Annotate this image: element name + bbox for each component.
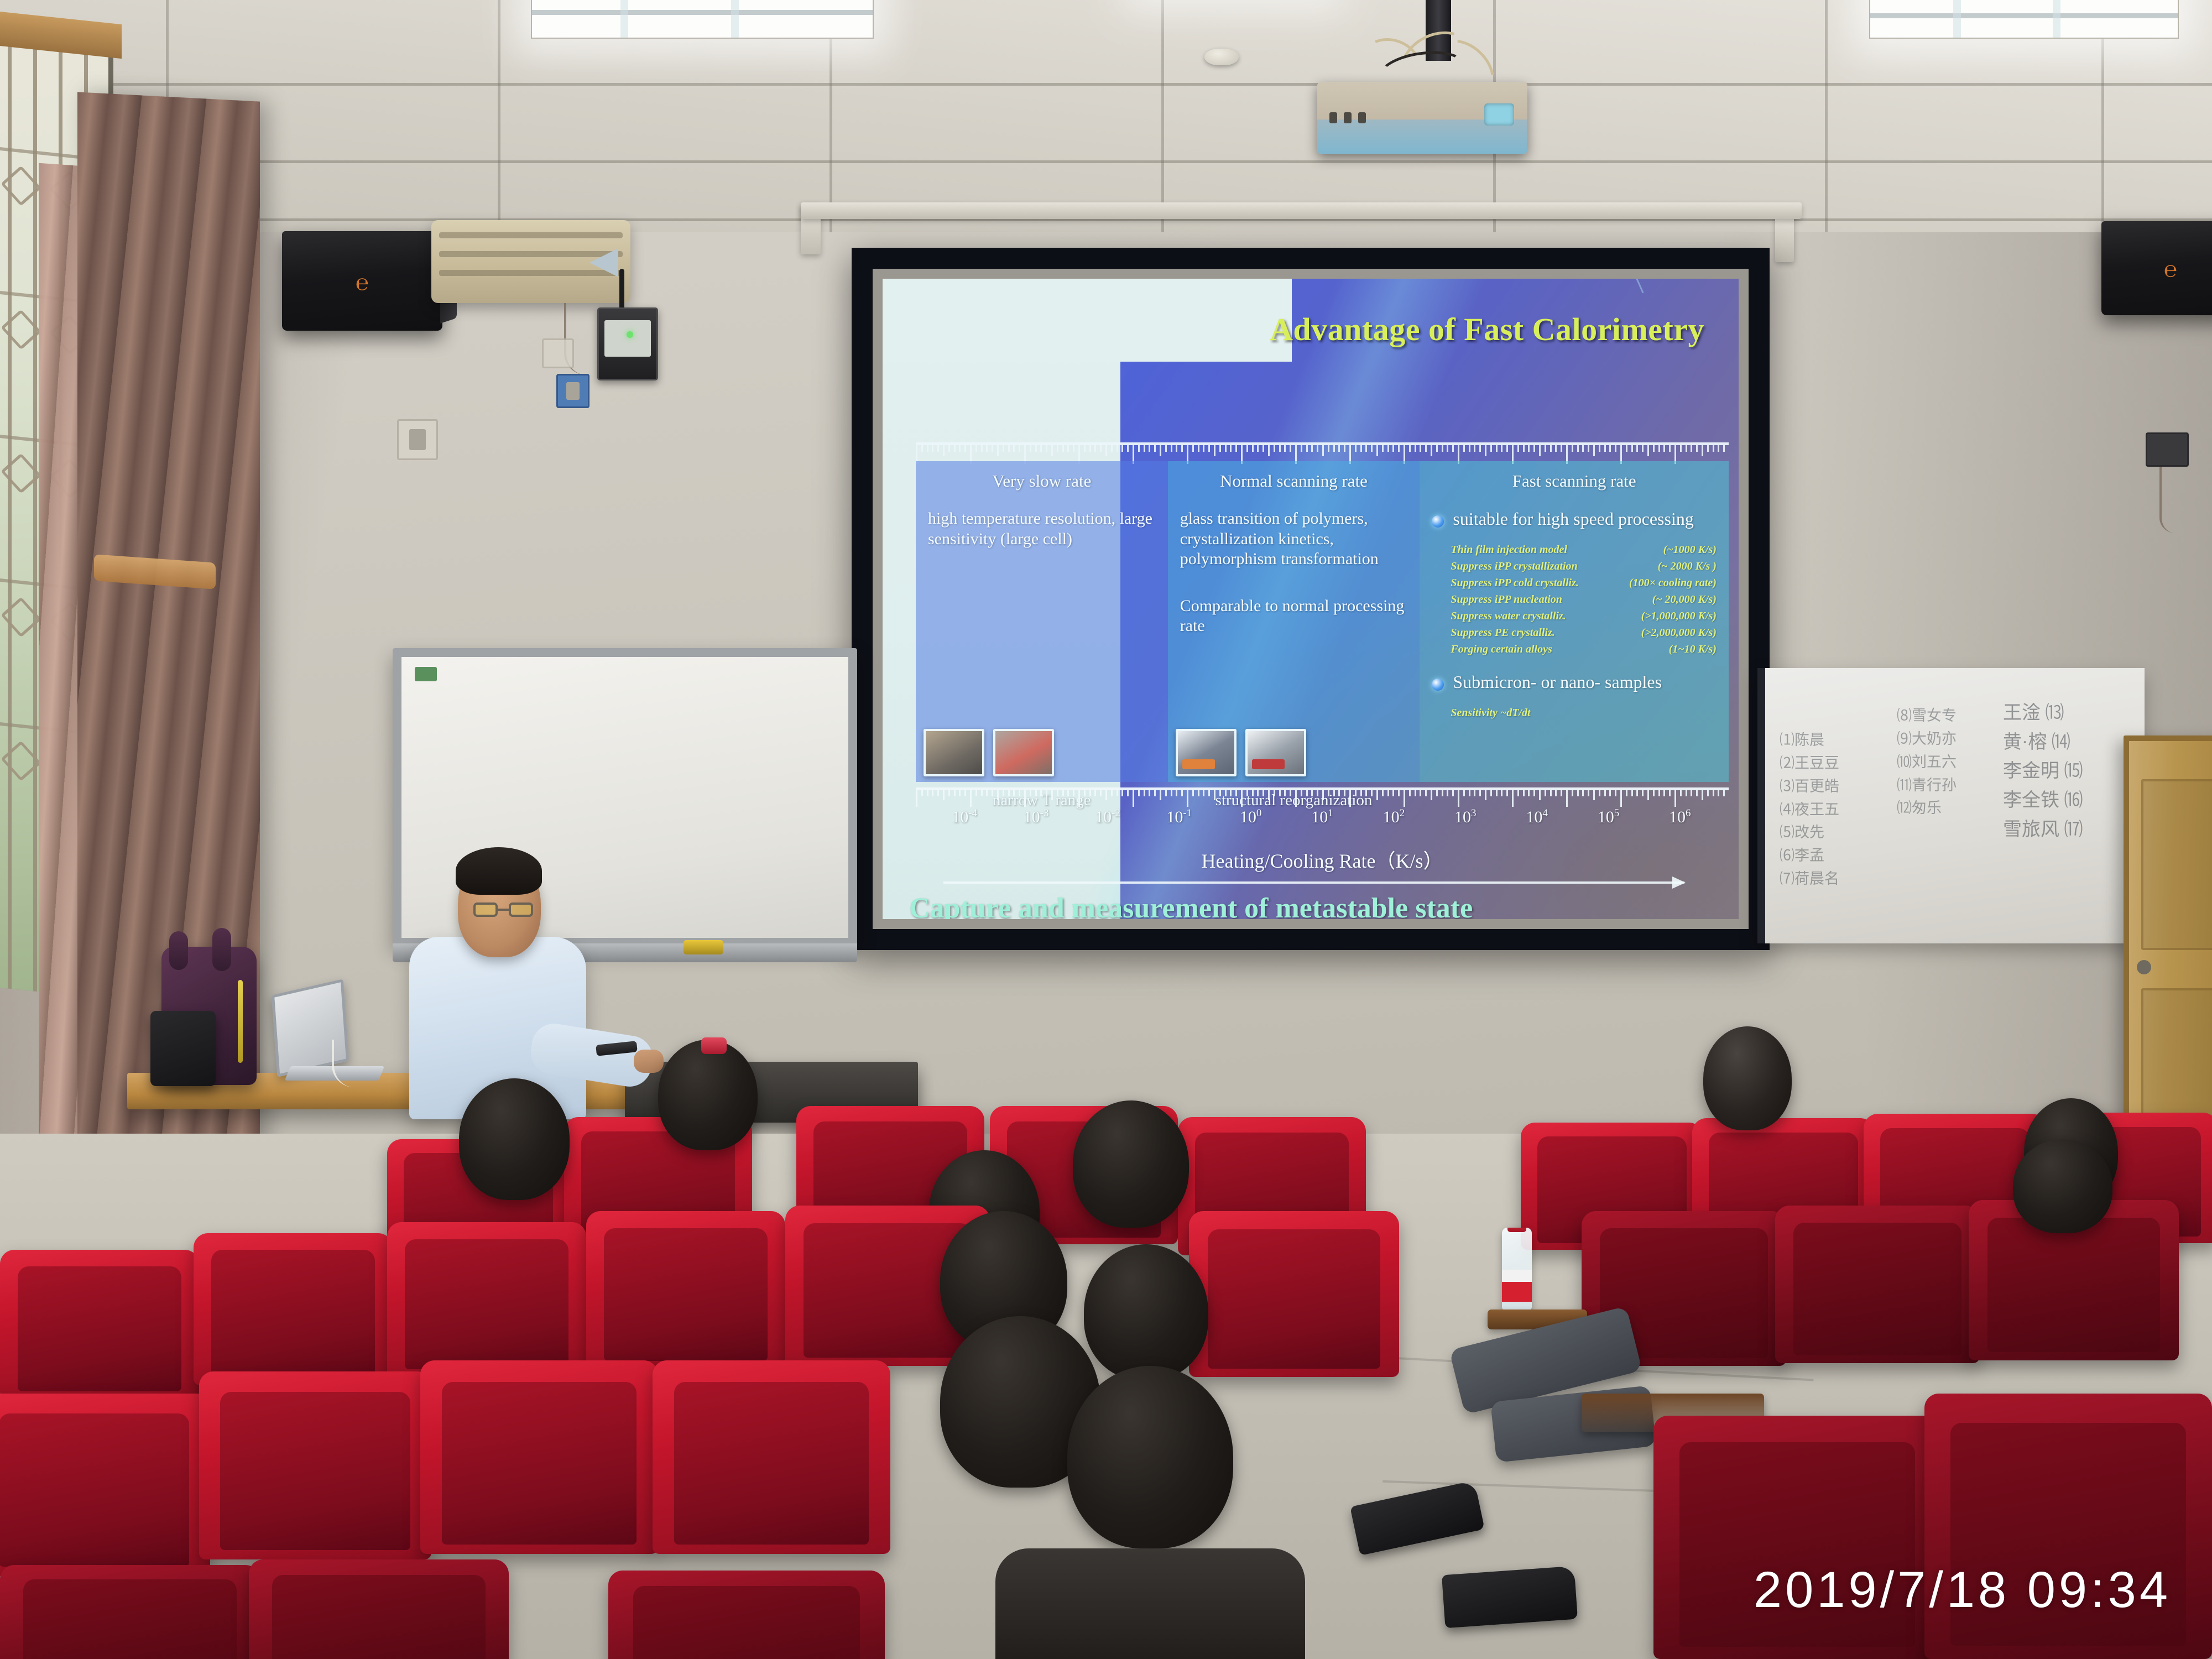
presenter-hair: [456, 847, 542, 895]
fast-rate-row: Suppress water crystalliz.(>1,000,000 K/…: [1451, 608, 1717, 624]
wall-cable: [2159, 467, 2175, 533]
audience-head: [2013, 1139, 2112, 1233]
axis-tick: 106: [1669, 807, 1691, 827]
seat[interactable]: [1775, 1206, 1980, 1363]
whiteboard-eraser: [684, 940, 723, 954]
audience-head: [1073, 1100, 1189, 1228]
fast-rate-name: Suppress iPP cold crystalliz.: [1451, 575, 1578, 591]
fast-rate-name: Suppress iPP crystallization: [1451, 558, 1577, 575]
panel-body-secondary: Comparable to normal processing rate: [1180, 596, 1408, 637]
photo-timestamp: 2019/7/18 09:34: [1754, 1561, 2171, 1619]
handwriting-column: 王淦 ⒀ 黄·榕 ⒁ 李金明 ⒂ 李全铁 ⒃ 雪旅风 ⒄: [2003, 699, 2083, 844]
audience-head: [459, 1078, 570, 1200]
seat[interactable]: [387, 1222, 586, 1377]
panel-body: high temperature resolution, large sensi…: [928, 509, 1156, 549]
axis-tick: 10-1: [1166, 807, 1192, 827]
thumbnail-image: [993, 729, 1054, 776]
seat[interactable]: [199, 1371, 431, 1559]
presenter-glasses: [473, 902, 533, 917]
audience-shoulders: [995, 1548, 1305, 1659]
hair-clip: [701, 1037, 727, 1054]
laptop-bag: [150, 1011, 216, 1086]
seat[interactable]: [653, 1360, 890, 1554]
wall-socket: [556, 374, 589, 408]
fast-rate-value: (~ 2000 K/s ): [1658, 558, 1717, 575]
panel-fast-scanning-rate: Fast scanning rate suitable for high spe…: [1420, 461, 1729, 782]
seat[interactable]: [1924, 1394, 2212, 1659]
fast-rate-row: Forging certain alloys(1~10 K/s): [1451, 641, 1717, 658]
audience-head: [1084, 1244, 1208, 1380]
fast-rate-name: Suppress water crystalliz.: [1451, 608, 1566, 624]
fast-rate-value: (~ 20,000 K/s): [1652, 591, 1717, 608]
axis-tick: 105: [1598, 807, 1620, 827]
axis-tick: 10-4: [952, 807, 977, 827]
seat[interactable]: [1189, 1211, 1399, 1377]
wall-socket: [397, 419, 438, 460]
sensitivity-note: Sensitivity ~dT/dt: [1451, 707, 1717, 719]
wall-speaker-left: ℮: [282, 231, 442, 331]
bullet-item: suitable for high speed processing: [1432, 509, 1717, 529]
slide-footer: Capture and measurement of metastable st…: [909, 893, 1728, 919]
thumbnail-image: [924, 729, 984, 776]
panel-thumbnails: [924, 729, 1054, 776]
fast-rate-row: Suppress iPP crystallization(~ 2000 K/s …: [1451, 558, 1717, 575]
axis-arrow-icon: [943, 881, 1684, 884]
seat[interactable]: [608, 1571, 885, 1659]
bottle-cap-icon: [1507, 1228, 1526, 1232]
speaker-logo-icon: ℮: [356, 270, 369, 295]
wall-speaker-right: ℮: [2101, 221, 2212, 315]
bullet-dot-icon: [1432, 515, 1444, 528]
air-conditioner-unit: [431, 220, 630, 303]
panel-heading: Very slow rate: [928, 471, 1156, 491]
audience-head: [658, 1040, 758, 1150]
seat[interactable]: [194, 1233, 393, 1385]
fast-rate-value: (>1,000,000 K/s): [1641, 608, 1717, 624]
ceiling-light-panel: [531, 0, 874, 39]
handwriting-column: ⑻雪女专 ⑼大奶亦 ⑽刘五六 ⑾青行孙 ⑿匆乐: [1897, 705, 1957, 820]
fast-rate-value: (>2,000,000 K/s): [1641, 624, 1717, 641]
bullet-item: Submicron- or nano- samples: [1432, 672, 1717, 692]
wall-socket: [542, 338, 574, 368]
seat[interactable]: [420, 1360, 658, 1554]
bullet-label: suitable for high speed processing: [1453, 509, 1693, 529]
wifi-antenna-icon: [619, 269, 624, 313]
fast-rate-row: Suppress iPP nucleation(~ 20,000 K/s): [1451, 591, 1717, 608]
presenter-hand: [634, 1050, 664, 1073]
axis-tick: 104: [1526, 807, 1548, 827]
slide-ruler-top: [916, 442, 1729, 461]
panel-heading: Fast scanning rate: [1432, 471, 1717, 491]
smoke-detector-icon: [1204, 49, 1239, 65]
bullet-dot-icon: [1432, 679, 1444, 691]
axis-tick: 100: [1240, 807, 1262, 827]
bottle-label: [1502, 1270, 1532, 1302]
panel-heading: Normal scanning rate: [1180, 471, 1408, 491]
ceiling: [0, 0, 2212, 232]
axis-tick-labels: 10-410-310-210-1100101102103104105106: [916, 807, 1729, 838]
handwriting-column: ⑴陈晨 ⑵王豆豆 ⑶百更皓 ⑷夜王五 ⑸改先 ⑹李孟 ⑺荷晨名: [1780, 729, 1839, 891]
panel-thumbnails: [1176, 729, 1306, 776]
seat[interactable]: [0, 1394, 210, 1576]
slide-panel-row: Very slow rate high temperature resoluti…: [916, 461, 1729, 782]
thumbnail-image: [1245, 729, 1306, 776]
panel-body: glass transition of polymers, crystalliz…: [1180, 509, 1408, 570]
seat[interactable]: [249, 1559, 509, 1659]
axis-ruler: [916, 787, 1729, 804]
ceiling-light-panel: [1869, 0, 2179, 39]
axis-tick: 10-2: [1095, 807, 1120, 827]
fast-rate-row: Suppress iPP cold crystalliz.(100× cooli…: [1451, 575, 1717, 591]
fast-rate-row: Suppress PE crystalliz.(>2,000,000 K/s): [1451, 624, 1717, 641]
screen-roller-housing: [801, 202, 1802, 219]
axis-label: Heating/Cooling Rate（K/s）: [916, 845, 1729, 874]
seat[interactable]: [586, 1211, 785, 1369]
laptop-cable: [332, 1040, 404, 1087]
slide-footer-line1: Capture and measurement of metastable st…: [909, 893, 1728, 919]
fast-rate-value: (100× cooling rate): [1629, 575, 1717, 591]
axis-tick: 10-3: [1024, 807, 1049, 827]
projector-lens-icon: [1484, 103, 1514, 126]
fast-rate-value: (1~10 K/s): [1669, 641, 1717, 658]
fast-rate-list: Thin film injection model(~1000 K/s)Supp…: [1451, 541, 1717, 658]
slide-title: Advantage of Fast Calorimetry: [1270, 311, 1723, 348]
fast-rate-name: Thin film injection model: [1451, 541, 1567, 558]
fast-rate-row: Thin film injection model(~1000 K/s): [1451, 541, 1717, 558]
door-knob-icon[interactable]: [2137, 960, 2151, 974]
panel-normal-scanning-rate: Normal scanning rate glass transition of…: [1168, 461, 1420, 782]
whiteboard-right: ⑴陈晨 ⑵王豆豆 ⑶百更皓 ⑷夜王五 ⑸改先 ⑹李孟 ⑺荷晨名 ⑻雪女专 ⑼大奶…: [1757, 668, 2145, 943]
lecture-hall-photo: ℮ ℮ Advantage of Fast Calorimetry: [0, 0, 2212, 1659]
slide-axis: 10-410-310-210-1100101102103104105106 He…: [916, 787, 1729, 874]
bullet-label: Submicron- or nano- samples: [1453, 672, 1662, 692]
seat[interactable]: [1653, 1416, 1941, 1659]
audience-head: [1067, 1366, 1233, 1548]
axis-tick: 103: [1454, 807, 1477, 827]
ac-badge-icon: [589, 248, 618, 277]
fast-rate-name: Suppress iPP nucleation: [1451, 591, 1562, 608]
ceiling-projector: [1317, 82, 1527, 154]
seat[interactable]: [0, 1565, 260, 1659]
thumbnail-image: [1176, 729, 1237, 776]
panel-very-slow-rate: Very slow rate high temperature resoluti…: [916, 461, 1168, 782]
wireless-access-point: [597, 307, 658, 380]
screen-mount-bracket: [1775, 213, 1794, 262]
seat[interactable]: [0, 1250, 199, 1399]
axis-tick: 102: [1383, 807, 1405, 827]
speaker-logo-icon: ℮: [2164, 258, 2177, 283]
whiteboard-sticker-icon: [415, 667, 437, 681]
audience-head: [1703, 1026, 1792, 1130]
presentation-slide: Advantage of Fast Calorimetry Very slow …: [883, 279, 1739, 919]
water-bottle[interactable]: [1502, 1228, 1532, 1311]
axis-tick: 101: [1311, 807, 1333, 827]
fast-rate-name: Suppress PE crystalliz.: [1451, 624, 1554, 641]
audience-shoe: [1442, 1566, 1578, 1629]
wall-socket: [2146, 432, 2189, 467]
fast-rate-name: Forging certain alloys: [1451, 641, 1552, 658]
fast-rate-value: (~1000 K/s): [1663, 541, 1717, 558]
